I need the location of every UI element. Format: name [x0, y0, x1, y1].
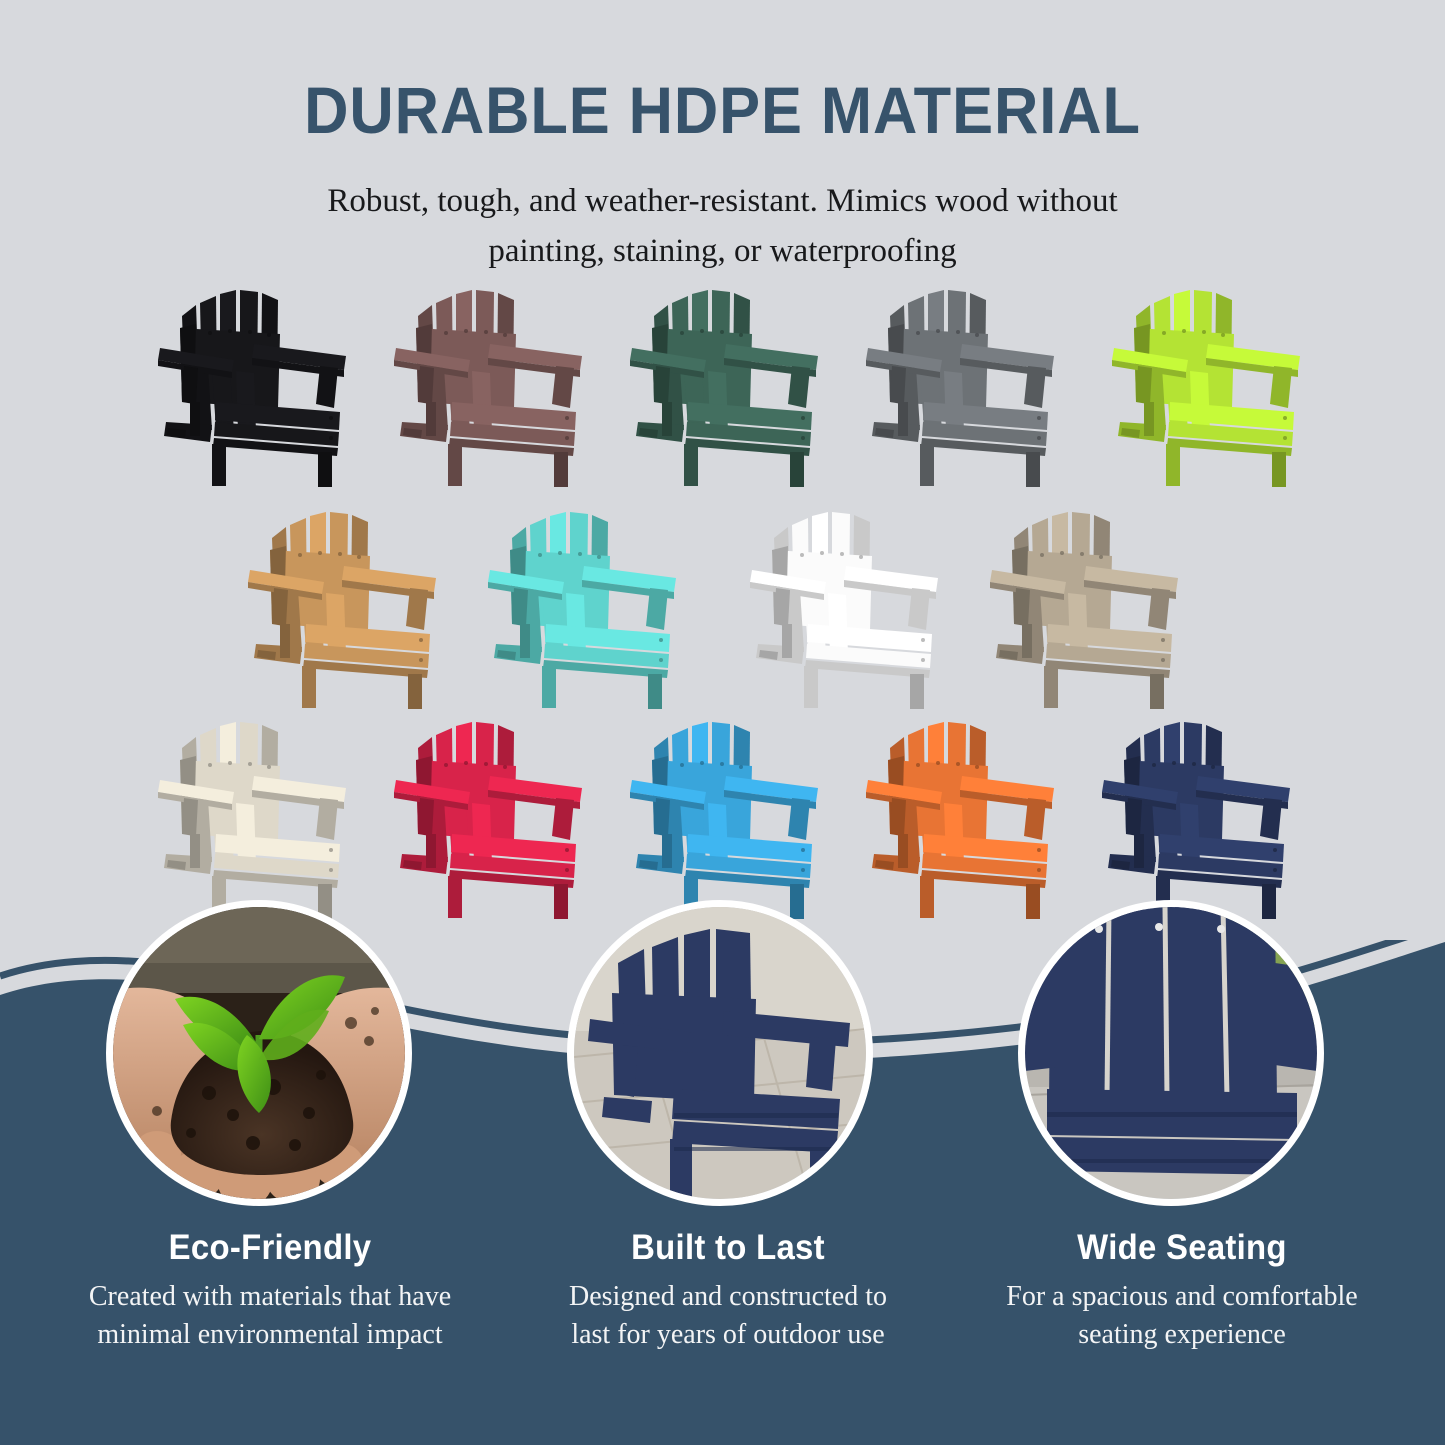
chair-graphic — [386, 704, 601, 919]
chair-swatch-brown[interactable] — [386, 272, 601, 487]
chair-seat — [303, 624, 430, 678]
chair-swatch-turquoise[interactable] — [480, 494, 695, 709]
chair-seat — [685, 402, 812, 456]
feature-description: Designed and constructed to last for yea… — [488, 1278, 968, 1353]
chair-seat — [921, 402, 1048, 456]
chair-swatch-navy-blue[interactable] — [1094, 704, 1309, 919]
chair-seat — [449, 834, 576, 888]
chair-graphic — [386, 272, 601, 487]
chair-swatch-dark-green[interactable] — [622, 272, 837, 487]
chair-seat — [213, 402, 340, 456]
chair-seat — [805, 624, 932, 678]
photo-circle-wide-seating — [1018, 900, 1324, 1206]
chair-graphic — [858, 704, 1073, 919]
chair-graphic — [622, 272, 837, 487]
chair-graphic — [1094, 704, 1309, 919]
chair-swatch-blue[interactable] — [622, 704, 837, 919]
navy-chair-patio-icon — [574, 907, 866, 1199]
chair-graphic — [858, 272, 1073, 487]
chair-graphic — [150, 272, 365, 487]
navy-chair-seat-closeup-icon — [1025, 907, 1317, 1199]
feature-title: Eco-Friendly — [44, 1228, 495, 1268]
chair-swatch-black[interactable] — [150, 272, 365, 487]
subtitle-line-2: painting, staining, or waterproofing — [223, 226, 1223, 276]
chair-seat — [543, 624, 670, 678]
chair-graphic — [150, 704, 365, 919]
feature-built-to-last: Built to Last Designed and constructed t… — [488, 1228, 968, 1353]
subtitle-line-1: Robust, tough, and weather-resistant. Mi… — [223, 176, 1223, 226]
chair-seat — [449, 402, 576, 456]
chair-graphic — [622, 704, 837, 919]
chair-swatch-gray[interactable] — [858, 272, 1073, 487]
page-subtitle: Robust, tough, and weather-resistant. Mi… — [223, 176, 1223, 276]
chair-swatch-teak[interactable] — [240, 494, 455, 709]
photo-circle-eco-friendly — [106, 900, 412, 1206]
chair-seat — [1167, 402, 1294, 456]
chair-swatch-weathered-wood[interactable] — [982, 494, 1197, 709]
chair-seat — [921, 834, 1048, 888]
feature-wide-seating: Wide Seating For a spacious and comforta… — [942, 1228, 1422, 1353]
feature-desc-line-1: Designed and constructed to — [569, 1281, 887, 1312]
feature-desc-line-1: For a spacious and comfortable — [1006, 1281, 1357, 1312]
chair-graphic — [480, 494, 695, 709]
feature-description: For a spacious and comfortable seating e… — [942, 1278, 1422, 1353]
chair-graphic — [1104, 272, 1319, 487]
infographic-canvas: DURABLE HDPE MATERIAL Robust, tough, and… — [0, 0, 1445, 1445]
hands-seedling-icon — [113, 907, 405, 1199]
photo-circle-built-to-last — [567, 900, 873, 1206]
chair-swatch-lime-green[interactable] — [1104, 272, 1319, 487]
feature-desc-line-2: seating experience — [1078, 1319, 1286, 1350]
chair-swatch-white[interactable] — [742, 494, 957, 709]
page-title: DURABLE HDPE MATERIAL — [51, 72, 1395, 148]
feature-eco-friendly: Eco-Friendly Created with materials that… — [30, 1228, 510, 1353]
chair-swatch-orange[interactable] — [858, 704, 1073, 919]
chair-seat — [685, 834, 812, 888]
feature-desc-line-1: Created with materials that have — [89, 1281, 451, 1312]
chair-seat — [213, 834, 340, 888]
feature-title: Built to Last — [502, 1228, 953, 1268]
feature-desc-line-2: minimal environmental impact — [97, 1319, 442, 1350]
chair-graphic — [742, 494, 957, 709]
chair-seat — [1157, 834, 1284, 888]
chair-graphic — [982, 494, 1197, 709]
feature-title: Wide Seating — [956, 1228, 1407, 1268]
feature-desc-line-2: last for years of outdoor use — [571, 1319, 884, 1350]
chair-swatch-red[interactable] — [386, 704, 601, 919]
chair-graphic — [240, 494, 455, 709]
chair-seat — [1045, 624, 1172, 678]
chair-swatch-ivory[interactable] — [150, 704, 365, 919]
feature-description: Created with materials that have minimal… — [30, 1278, 510, 1353]
chair-color-grid — [0, 272, 1445, 922]
